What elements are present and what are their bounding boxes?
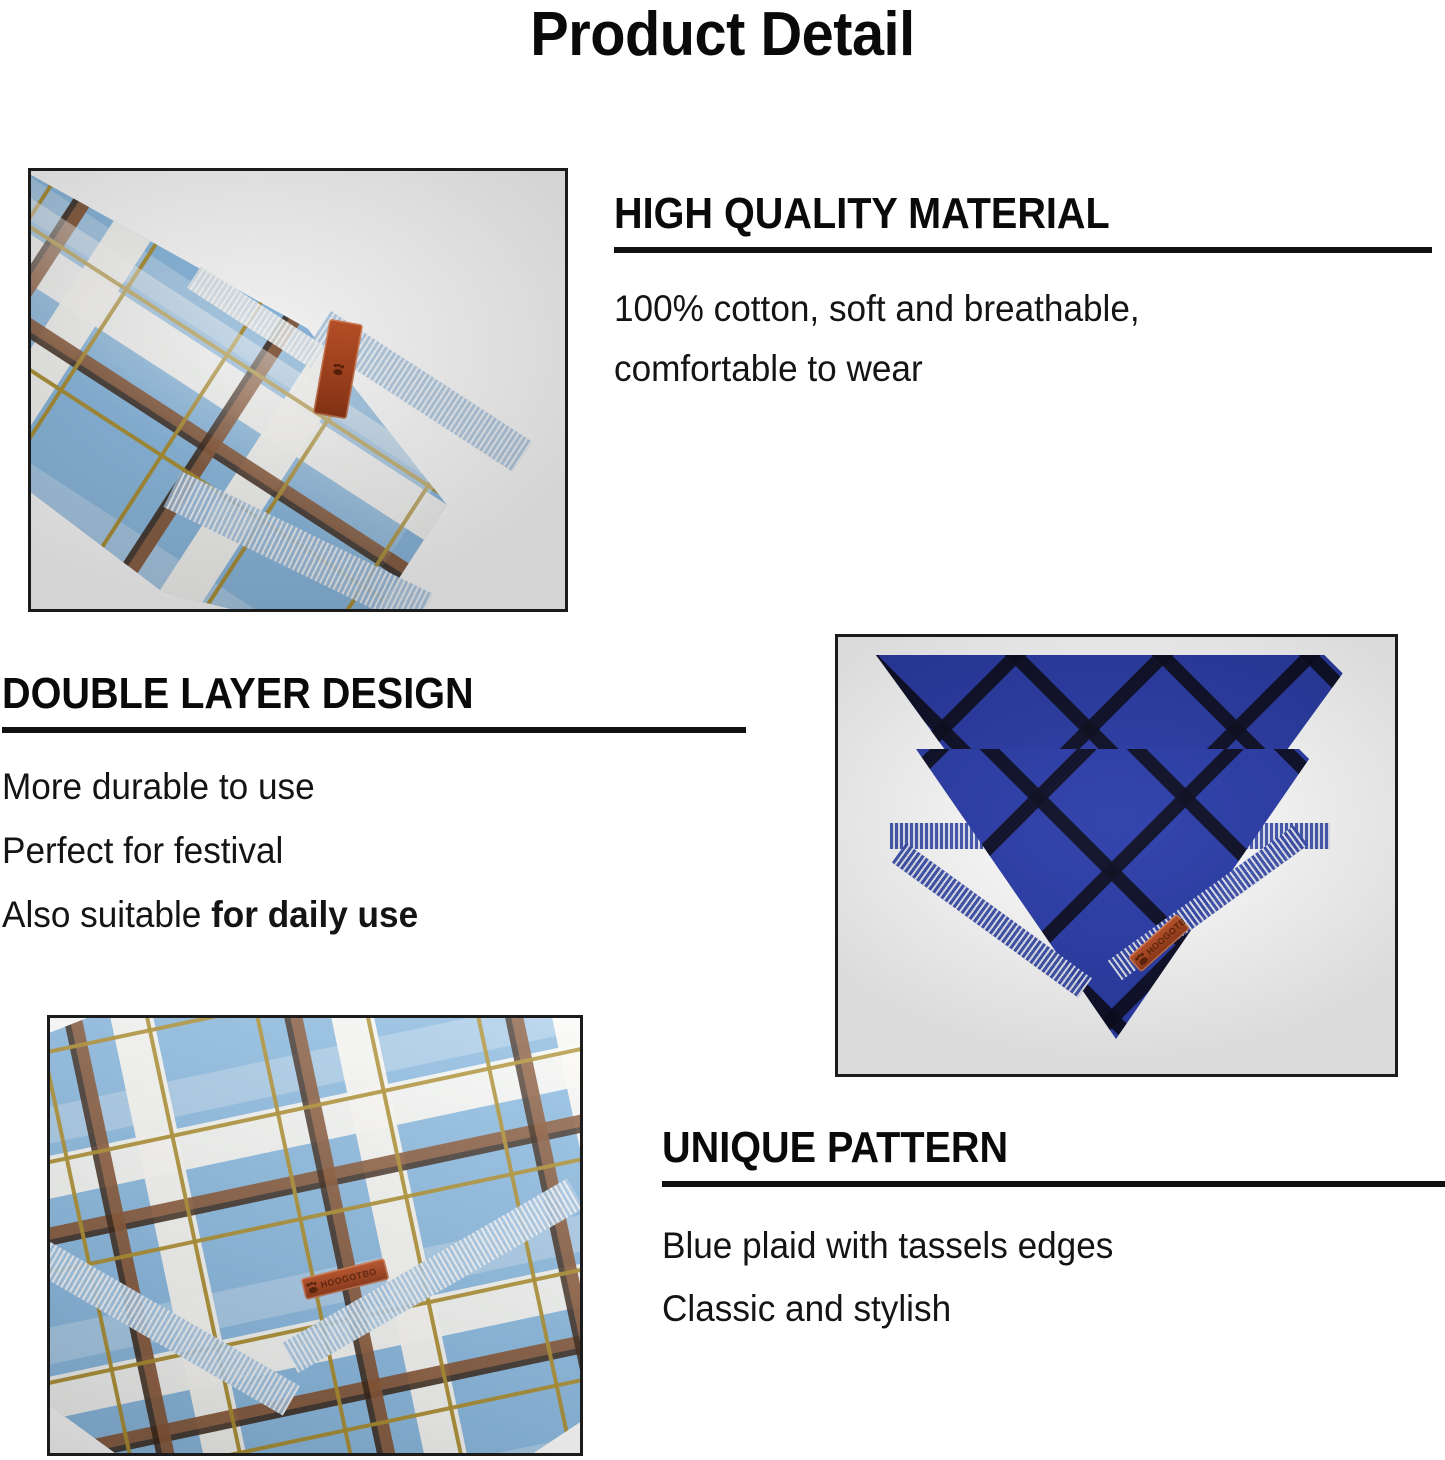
blue-bandana-image: HOOGOTBO: [838, 637, 1395, 1074]
photo-shading-overlay: [50, 1018, 580, 1453]
heading-underline: [2, 727, 746, 733]
product-photo-folded-bandana: [28, 168, 568, 612]
body-line: Classic and stylish: [662, 1278, 1406, 1341]
section-high-quality-material: HIGH QUALITY MATERIAL 100% cotton, soft …: [614, 192, 1434, 399]
product-photo-blue-bandana: HOOGOTBO: [835, 634, 1398, 1077]
flat-lay-image: HOOGOTBO: [50, 1018, 580, 1453]
body-line-text: 100% cotton, soft and breathable,: [614, 288, 1140, 329]
section-unique-pattern: UNIQUE PATTERN Blue plaid with tassels e…: [662, 1126, 1445, 1341]
section-heading: UNIQUE PATTERN: [662, 1126, 1367, 1170]
body-line-text: comfortable to wear: [614, 348, 923, 389]
body-line-text: Also suitable: [2, 894, 211, 935]
heading-underline: [614, 247, 1432, 253]
body-line: Blue plaid with tassels edges: [662, 1215, 1406, 1278]
body-line-text: Perfect for festival: [2, 830, 283, 871]
body-line: Also suitable for daily use: [2, 883, 710, 947]
folded-bandana-image: [31, 171, 565, 609]
section-body: More durable to use Perfect for festival…: [2, 755, 710, 947]
heading-underline: [662, 1181, 1445, 1187]
section-body: Blue plaid with tassels edges Classic an…: [662, 1215, 1406, 1341]
section-body: 100% cotton, soft and breathable, comfor…: [614, 279, 1393, 399]
section-double-layer-design: DOUBLE LAYER DESIGN More durable to use …: [2, 672, 747, 947]
body-line: More durable to use: [2, 755, 710, 819]
page-title: Product Detail: [51, 2, 1395, 67]
product-detail-infographic: Product Detail HIGH QUALITY MATERIAL 100…: [0, 0, 1445, 1460]
body-line: Perfect for festival: [2, 819, 710, 883]
body-line: 100% cotton, soft and breathable,: [614, 279, 1393, 339]
section-heading: HIGH QUALITY MATERIAL: [614, 192, 1352, 236]
body-line-text: Blue plaid with tassels edges: [662, 1225, 1113, 1266]
body-line-text: Classic and stylish: [662, 1288, 951, 1329]
photo-shading-overlay: [31, 171, 565, 609]
body-line-emphasis: for daily use: [211, 894, 418, 935]
photo-shading-overlay: [838, 637, 1395, 1074]
section-heading: DOUBLE LAYER DESIGN: [2, 672, 673, 716]
body-line: comfortable to wear: [614, 339, 1393, 399]
product-photo-flat-lay: HOOGOTBO: [47, 1015, 583, 1456]
body-line-text: More durable to use: [2, 766, 315, 807]
